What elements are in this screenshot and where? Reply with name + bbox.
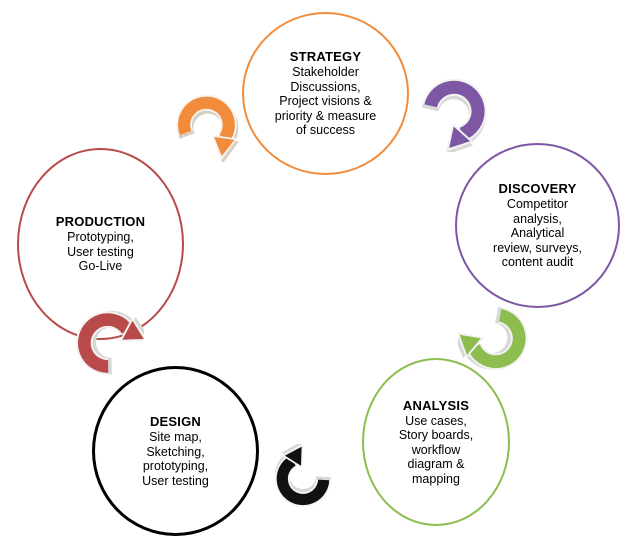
stage-text-design: DESIGN Site map, Sketching, prototyping,…	[106, 414, 246, 488]
curved-arrow-icon	[458, 298, 540, 384]
stage-body-strategy: Stakeholder Discussions, Project visions…	[256, 65, 396, 138]
stage-body-production: Prototyping, User testing Go-Live	[31, 230, 171, 274]
stage-text-production: PRODUCTION Prototyping, User testing Go-…	[31, 214, 171, 274]
stage-circle-discovery[interactable]: DISCOVERY Competitor analysis, Analytica…	[455, 143, 620, 308]
stage-title-design: DESIGN	[106, 414, 246, 429]
arrow-strategy-to-discovery	[418, 64, 496, 152]
stage-title-analysis: ANALYSIS	[366, 398, 506, 413]
stage-text-strategy: STRATEGY Stakeholder Discussions, Projec…	[256, 49, 396, 138]
arrow-analysis-to-design	[262, 444, 340, 520]
process-cycle-diagram: STRATEGY Stakeholder Discussions, Projec…	[0, 0, 630, 536]
arrow-production-to-strategy	[166, 80, 248, 162]
stage-body-discovery: Competitor analysis, Analytical review, …	[468, 197, 608, 270]
curved-arrow-icon	[418, 64, 496, 152]
curved-arrow-icon	[64, 298, 144, 384]
stage-title-production: PRODUCTION	[31, 214, 171, 229]
stage-title-strategy: STRATEGY	[256, 49, 396, 64]
stage-text-analysis: ANALYSIS Use cases, Story boards, workfl…	[366, 398, 506, 487]
stage-text-discovery: DISCOVERY Competitor analysis, Analytica…	[468, 181, 608, 270]
stage-body-analysis: Use cases, Story boards, workflow diagra…	[366, 414, 506, 487]
arrow-design-to-production	[64, 298, 144, 384]
curved-arrow-icon	[166, 80, 248, 162]
stage-body-design: Site map, Sketching, prototyping, User t…	[106, 430, 246, 488]
arrow-discovery-to-analysis	[458, 298, 540, 384]
stage-title-discovery: DISCOVERY	[468, 181, 608, 196]
stage-circle-strategy[interactable]: STRATEGY Stakeholder Discussions, Projec…	[242, 12, 409, 175]
stage-circle-design[interactable]: DESIGN Site map, Sketching, prototyping,…	[92, 366, 259, 536]
curved-arrow-icon	[262, 444, 340, 520]
